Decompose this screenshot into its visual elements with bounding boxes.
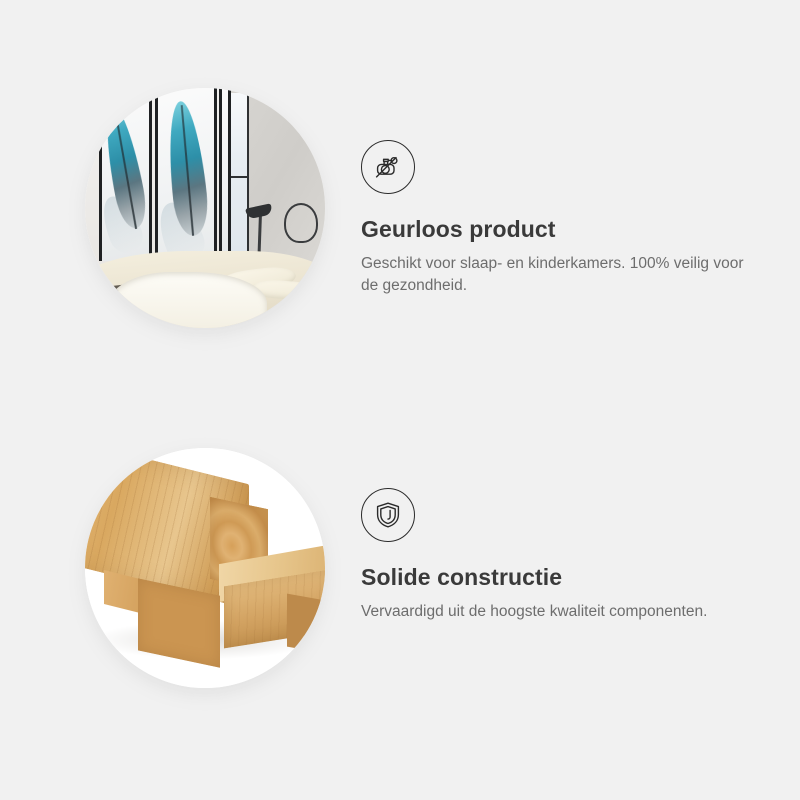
feature-description: Vervaardigd uit de hoogste kwaliteit com… (361, 601, 746, 623)
feature-title: Solide constructie (361, 564, 761, 592)
canvas-panel-left (99, 88, 152, 261)
no-fragrance-icon (361, 140, 415, 194)
beam-right-end-face (287, 593, 325, 653)
feature-block-odorless: Geurloos product Geschikt voor slaap- en… (0, 60, 800, 390)
feature-description: Geschikt voor slaap- en kinderkamers. 10… (361, 253, 746, 298)
bedroom-with-teal-feather-canvas-art (85, 88, 325, 328)
room-scene (85, 88, 325, 328)
feature-image-wrapper (85, 88, 325, 328)
bed (85, 251, 325, 328)
shield-icon (361, 488, 415, 542)
wooden-beams-blocks (85, 448, 325, 688)
feature-title: Geurloos product (361, 216, 761, 244)
canvas-panel-center (155, 88, 217, 270)
feature-text-column: Geurloos product Geschikt voor slaap- en… (361, 140, 761, 298)
wall-decor-hoop (284, 203, 318, 243)
bed-sheet (107, 272, 268, 328)
feature-text-column: Solide constructie Vervaardigd uit de ho… (361, 488, 761, 623)
wood-scene (85, 448, 325, 688)
canvas-panel-right (219, 88, 231, 256)
feature-image-wrapper (85, 448, 325, 688)
feature-block-solid-construction: Solide constructie Vervaardigd uit de ho… (0, 420, 800, 720)
product-features-page: Geurloos product Geschikt voor slaap- en… (0, 0, 800, 800)
